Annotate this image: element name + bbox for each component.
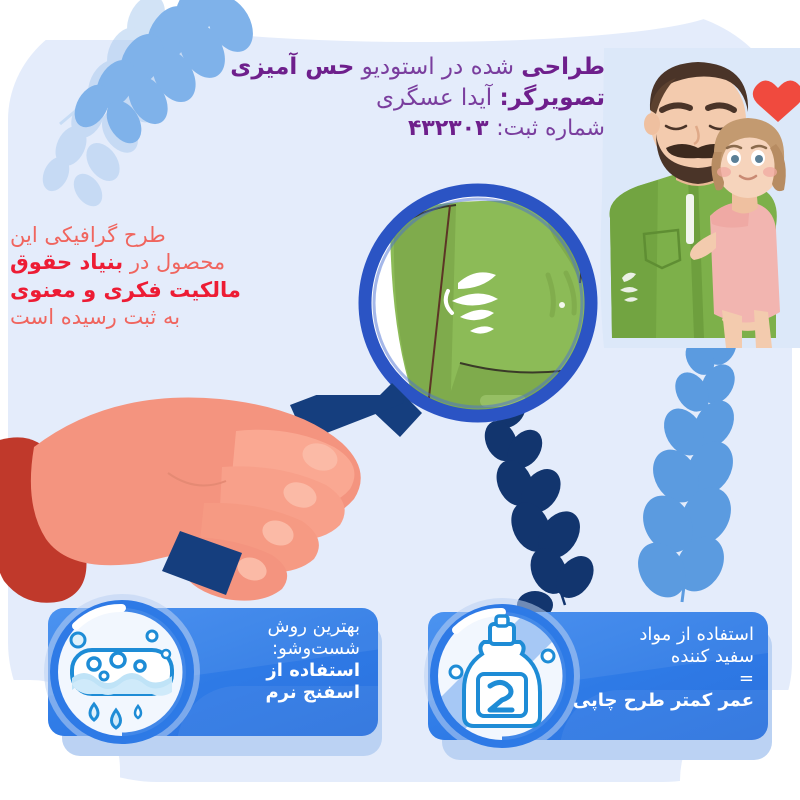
leaf-sprig-blue — [610, 330, 790, 610]
header-illustrator-name: آیدا عسگری — [376, 85, 500, 111]
header-registration-label: شماره ثبت: — [496, 116, 605, 141]
copyright-line-2-bold: بنیاد حقوق — [10, 250, 123, 274]
badge-wash-line-4: اسفنج نرم — [175, 682, 360, 704]
header-studio-name: حس آمیزی — [230, 54, 354, 80]
copyright-line-2: محصول در بنیاد حقوق — [10, 249, 280, 276]
header-designed-middle: شده در استودیو — [354, 54, 521, 80]
header-line-studio: طراحی شده در استودیو حس آمیزی — [185, 52, 605, 83]
sponge-icon — [42, 592, 202, 752]
header-line-illustrator: تصویرگر: آیدا عسگری — [185, 83, 605, 114]
background-notch-top-right — [730, 0, 800, 28]
badge-wash-line-2: شست‌وشو: — [175, 638, 360, 660]
copyright-line-2-light: محصول در — [123, 250, 225, 274]
badge-no-bleach[interactable]: استفاده از مواد سفید کننده = عمر کمتر طر… — [428, 612, 768, 752]
badge-wash-line-1: بهترین روش — [175, 616, 360, 638]
header-line-registration: شماره ثبت: ۴۳۲۳۰۳ — [185, 114, 605, 143]
header-illustrator-label: تصویرگر: — [499, 85, 605, 111]
badge-wash-line-3: استفاده از — [175, 660, 360, 682]
copyright-line-3: مالکیت فکری و معنوی — [10, 277, 280, 304]
copyright-line-1: طرح گرافیکی این — [10, 222, 280, 249]
infographic-canvas: طراحی شده در استودیو حس آمیزی تصویرگر: آ… — [0, 0, 800, 800]
no-bleach-icon — [422, 596, 582, 756]
hand-holding-magnifier — [0, 395, 410, 625]
badge-wash-text: بهترین روش شست‌وشو: استفاده از اسفنج نرم — [175, 616, 360, 704]
copyright-notice: طرح گرافیکی این محصول در بنیاد حقوق مالک… — [10, 222, 280, 331]
badge-wash-method[interactable]: بهترین روش شست‌وشو: استفاده از اسفنج نرم — [48, 608, 378, 748]
header-credits: طراحی شده در استودیو حس آمیزی تصویرگر: آ… — [185, 52, 605, 143]
header-designed-label: طراحی — [521, 54, 605, 80]
copyright-line-4: به ثبت رسیده است — [10, 304, 280, 331]
header-registration-number: ۴۳۲۳۰۳ — [408, 116, 496, 141]
